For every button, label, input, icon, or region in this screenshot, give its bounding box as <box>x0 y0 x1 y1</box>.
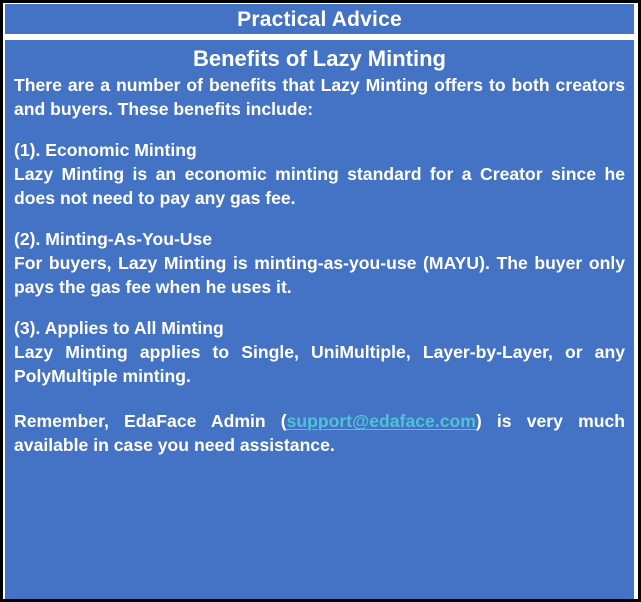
section-2-body: For buyers, Lazy Minting is minting-as-y… <box>14 252 625 300</box>
spacer-2 <box>14 211 625 228</box>
spacer-3 <box>14 300 625 317</box>
intro-paragraph: There are a number of benefits that Lazy… <box>14 74 625 122</box>
section-2-heading: (2). Minting-As-You-Use <box>14 228 625 252</box>
spacer-4 <box>14 388 625 410</box>
banner-title: Practical Advice <box>237 9 402 30</box>
card-title: Benefits of Lazy Minting <box>14 46 625 71</box>
section-3-body: Lazy Minting applies to Single, UniMulti… <box>14 341 625 389</box>
support-email-link[interactable]: support@edaface.com <box>287 411 476 431</box>
section-3-heading: (3). Applies to All Minting <box>14 317 625 341</box>
section-1-heading: (1). Economic Minting <box>14 139 625 163</box>
section-1-body: Lazy Minting is an economic minting stan… <box>14 163 625 211</box>
closing-paragraph: Remember, EdaFace Admin (support@edaface… <box>14 410 625 458</box>
closing-text-before-link: Remember, EdaFace Admin ( <box>14 411 287 431</box>
slide-container: Practical Advice Benefits of Lazy Mintin… <box>0 0 641 602</box>
practical-advice-banner: Practical Advice <box>5 4 634 34</box>
benefits-card: Benefits of Lazy Minting There are a num… <box>5 40 634 599</box>
spacer-1 <box>14 122 625 139</box>
